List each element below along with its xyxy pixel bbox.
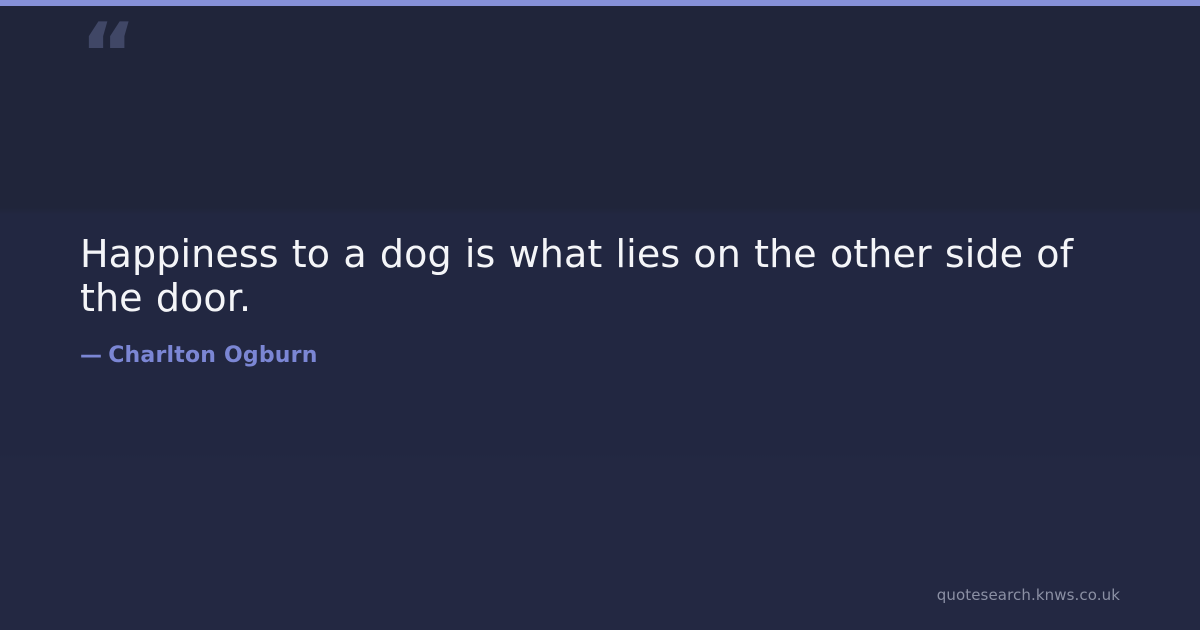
quote-content: Happiness to a dog is what lies on the o… — [80, 232, 1125, 370]
quote-author: Charlton Ogburn — [108, 343, 317, 368]
site-watermark: quotesearch.knws.co.uk — [937, 586, 1120, 604]
quote-mark-icon: “ — [80, 12, 135, 98]
quote-text: Happiness to a dog is what lies on the o… — [80, 232, 1125, 320]
attribution-dash: — — [80, 343, 102, 368]
top-accent-bar — [0, 0, 1200, 6]
quote-card: “ Happiness to a dog is what lies on the… — [0, 0, 1200, 630]
quote-attribution: —Charlton Ogburn — [80, 342, 1125, 370]
